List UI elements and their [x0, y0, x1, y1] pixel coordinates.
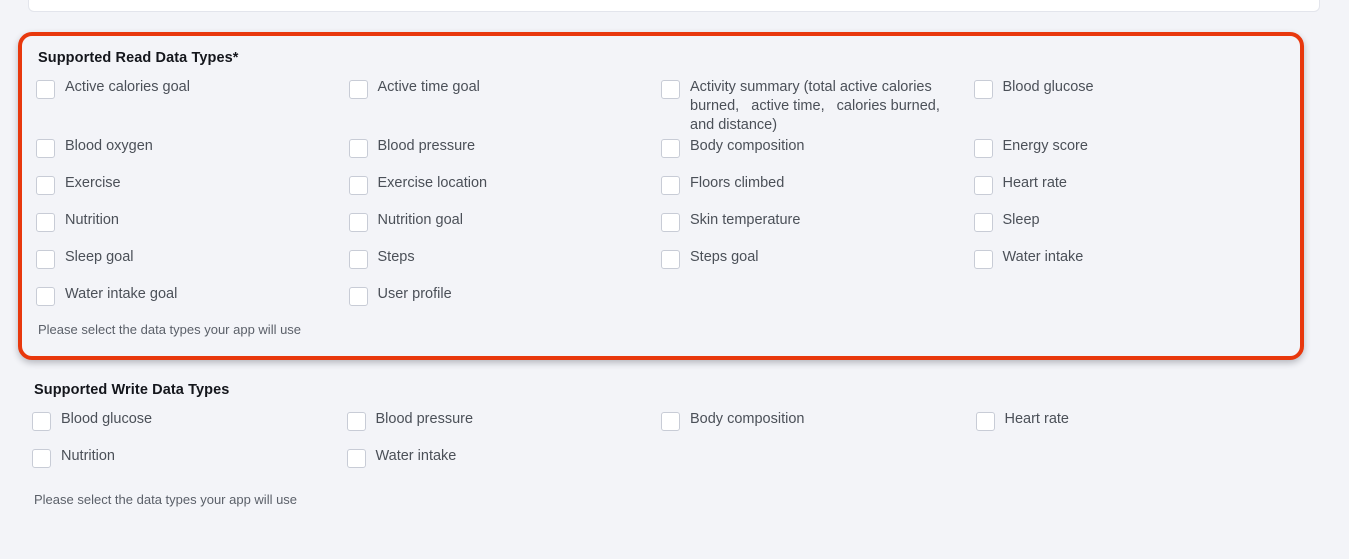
checkbox-option-label: Body composition [690, 137, 804, 156]
checkbox-unchecked-icon[interactable] [36, 80, 55, 99]
checkbox-unchecked-icon[interactable] [349, 287, 368, 306]
checkbox-unchecked-icon[interactable] [32, 412, 51, 431]
checkbox-option-label: Water intake [1003, 248, 1084, 267]
checkbox-unchecked-icon[interactable] [347, 449, 366, 468]
checkbox-option-label: Exercise location [378, 174, 488, 193]
checkbox-option-label: User profile [378, 285, 452, 304]
checkbox-option-label: Active time goal [378, 78, 480, 97]
checkbox-unchecked-icon[interactable] [661, 139, 680, 158]
checkbox-unchecked-icon[interactable] [349, 250, 368, 269]
read-section-helper-text: Please select the data types your app wi… [38, 320, 1286, 337]
checkbox-option[interactable]: Water intake goal [36, 285, 349, 306]
checkbox-option-label: Sleep [1003, 211, 1040, 230]
checkbox-option[interactable]: Blood glucose [974, 78, 1287, 132]
checkbox-option[interactable]: User profile [349, 285, 662, 306]
checkbox-option-label: Water intake goal [65, 285, 177, 304]
supported-write-data-types-section: Supported Write Data Types Blood glucose… [18, 382, 1304, 532]
checkbox-unchecked-icon[interactable] [974, 176, 993, 195]
checkbox-unchecked-icon[interactable] [661, 80, 680, 99]
checkbox-unchecked-icon[interactable] [661, 213, 680, 232]
checkbox-option-label: Sleep goal [65, 248, 134, 267]
checkbox-option[interactable]: Water intake [347, 447, 662, 468]
checkbox-option-label: Active calories goal [65, 78, 190, 97]
checkbox-option[interactable]: Sleep goal [36, 248, 349, 269]
checkbox-option[interactable]: Skin temperature [661, 211, 974, 232]
checkbox-unchecked-icon[interactable] [36, 213, 55, 232]
checkbox-option-label: Blood pressure [376, 410, 474, 429]
read-data-types-grid: Active calories goalActive time goalActi… [36, 78, 1286, 322]
checkbox-unchecked-icon[interactable] [974, 250, 993, 269]
checkbox-option-label: Steps [378, 248, 415, 267]
checkbox-option[interactable]: Heart rate [976, 410, 1291, 431]
checkbox-unchecked-icon[interactable] [32, 449, 51, 468]
checkbox-option[interactable]: Nutrition [36, 211, 349, 232]
checkbox-option[interactable]: Floors climbed [661, 174, 974, 195]
checkbox-option-label: Exercise [65, 174, 121, 193]
checkbox-option-label: Activity summary (total active calories … [690, 78, 966, 135]
checkbox-option-label: Blood glucose [61, 410, 152, 429]
previous-form-card-edge [28, 0, 1320, 12]
checkbox-option[interactable]: Body composition [661, 410, 976, 431]
checkbox-option-label: Floors climbed [690, 174, 784, 193]
checkbox-option-label: Water intake [376, 447, 457, 466]
checkbox-unchecked-icon[interactable] [661, 250, 680, 269]
checkbox-option[interactable]: Nutrition goal [349, 211, 662, 232]
checkbox-unchecked-icon[interactable] [974, 213, 993, 232]
checkbox-option-label: Skin temperature [690, 211, 800, 230]
checkbox-unchecked-icon[interactable] [974, 139, 993, 158]
checkbox-unchecked-icon[interactable] [36, 139, 55, 158]
checkbox-option-label: Energy score [1003, 137, 1088, 156]
checkbox-option-label: Nutrition goal [378, 211, 463, 230]
checkbox-option-label: Nutrition [65, 211, 119, 230]
checkbox-unchecked-icon[interactable] [349, 80, 368, 99]
checkbox-option[interactable]: Body composition [661, 137, 974, 158]
checkbox-option-label: Blood pressure [378, 137, 476, 156]
checkbox-option-label: Blood glucose [1003, 78, 1094, 97]
checkbox-option-label: Heart rate [1003, 174, 1067, 193]
read-section-title: Supported Read Data Types* [38, 50, 1286, 66]
checkbox-option[interactable]: Activity summary (total active calories … [661, 78, 974, 135]
checkbox-option[interactable]: Blood pressure [347, 410, 662, 431]
checkbox-option[interactable]: Blood oxygen [36, 137, 349, 158]
checkbox-option[interactable]: Steps [349, 248, 662, 269]
write-section-title: Supported Write Data Types [34, 382, 1290, 398]
write-data-types-grid: Blood glucoseBlood pressureBody composit… [32, 410, 1290, 484]
checkbox-unchecked-icon[interactable] [36, 250, 55, 269]
checkbox-option[interactable]: Active time goal [349, 78, 662, 132]
checkbox-option[interactable]: Heart rate [974, 174, 1287, 195]
checkbox-option[interactable]: Energy score [974, 137, 1287, 158]
checkbox-unchecked-icon[interactable] [976, 412, 995, 431]
checkbox-option[interactable]: Nutrition [32, 447, 347, 468]
checkbox-option-label: Blood oxygen [65, 137, 153, 156]
checkbox-unchecked-icon[interactable] [349, 139, 368, 158]
checkbox-option[interactable]: Blood pressure [349, 137, 662, 158]
checkbox-option[interactable]: Exercise location [349, 174, 662, 195]
checkbox-option[interactable]: Water intake [974, 248, 1287, 269]
write-section-helper-text: Please select the data types your app wi… [34, 490, 1290, 507]
checkbox-option[interactable]: Blood glucose [32, 410, 347, 431]
checkbox-unchecked-icon[interactable] [661, 176, 680, 195]
checkbox-unchecked-icon[interactable] [661, 412, 680, 431]
checkbox-option[interactable]: Exercise [36, 174, 349, 195]
checkbox-unchecked-icon[interactable] [349, 213, 368, 232]
checkbox-option[interactable]: Sleep [974, 211, 1287, 232]
checkbox-unchecked-icon[interactable] [349, 176, 368, 195]
checkbox-option-label: Steps goal [690, 248, 759, 267]
checkbox-unchecked-icon[interactable] [36, 176, 55, 195]
checkbox-option-label: Heart rate [1005, 410, 1069, 429]
checkbox-unchecked-icon[interactable] [974, 80, 993, 99]
checkbox-option[interactable]: Steps goal [661, 248, 974, 269]
supported-read-data-types-section: Supported Read Data Types* Active calori… [18, 32, 1304, 360]
checkbox-unchecked-icon[interactable] [347, 412, 366, 431]
checkbox-option-label: Nutrition [61, 447, 115, 466]
checkbox-unchecked-icon[interactable] [36, 287, 55, 306]
checkbox-option[interactable]: Active calories goal [36, 78, 349, 132]
checkbox-option-label: Body composition [690, 410, 804, 429]
